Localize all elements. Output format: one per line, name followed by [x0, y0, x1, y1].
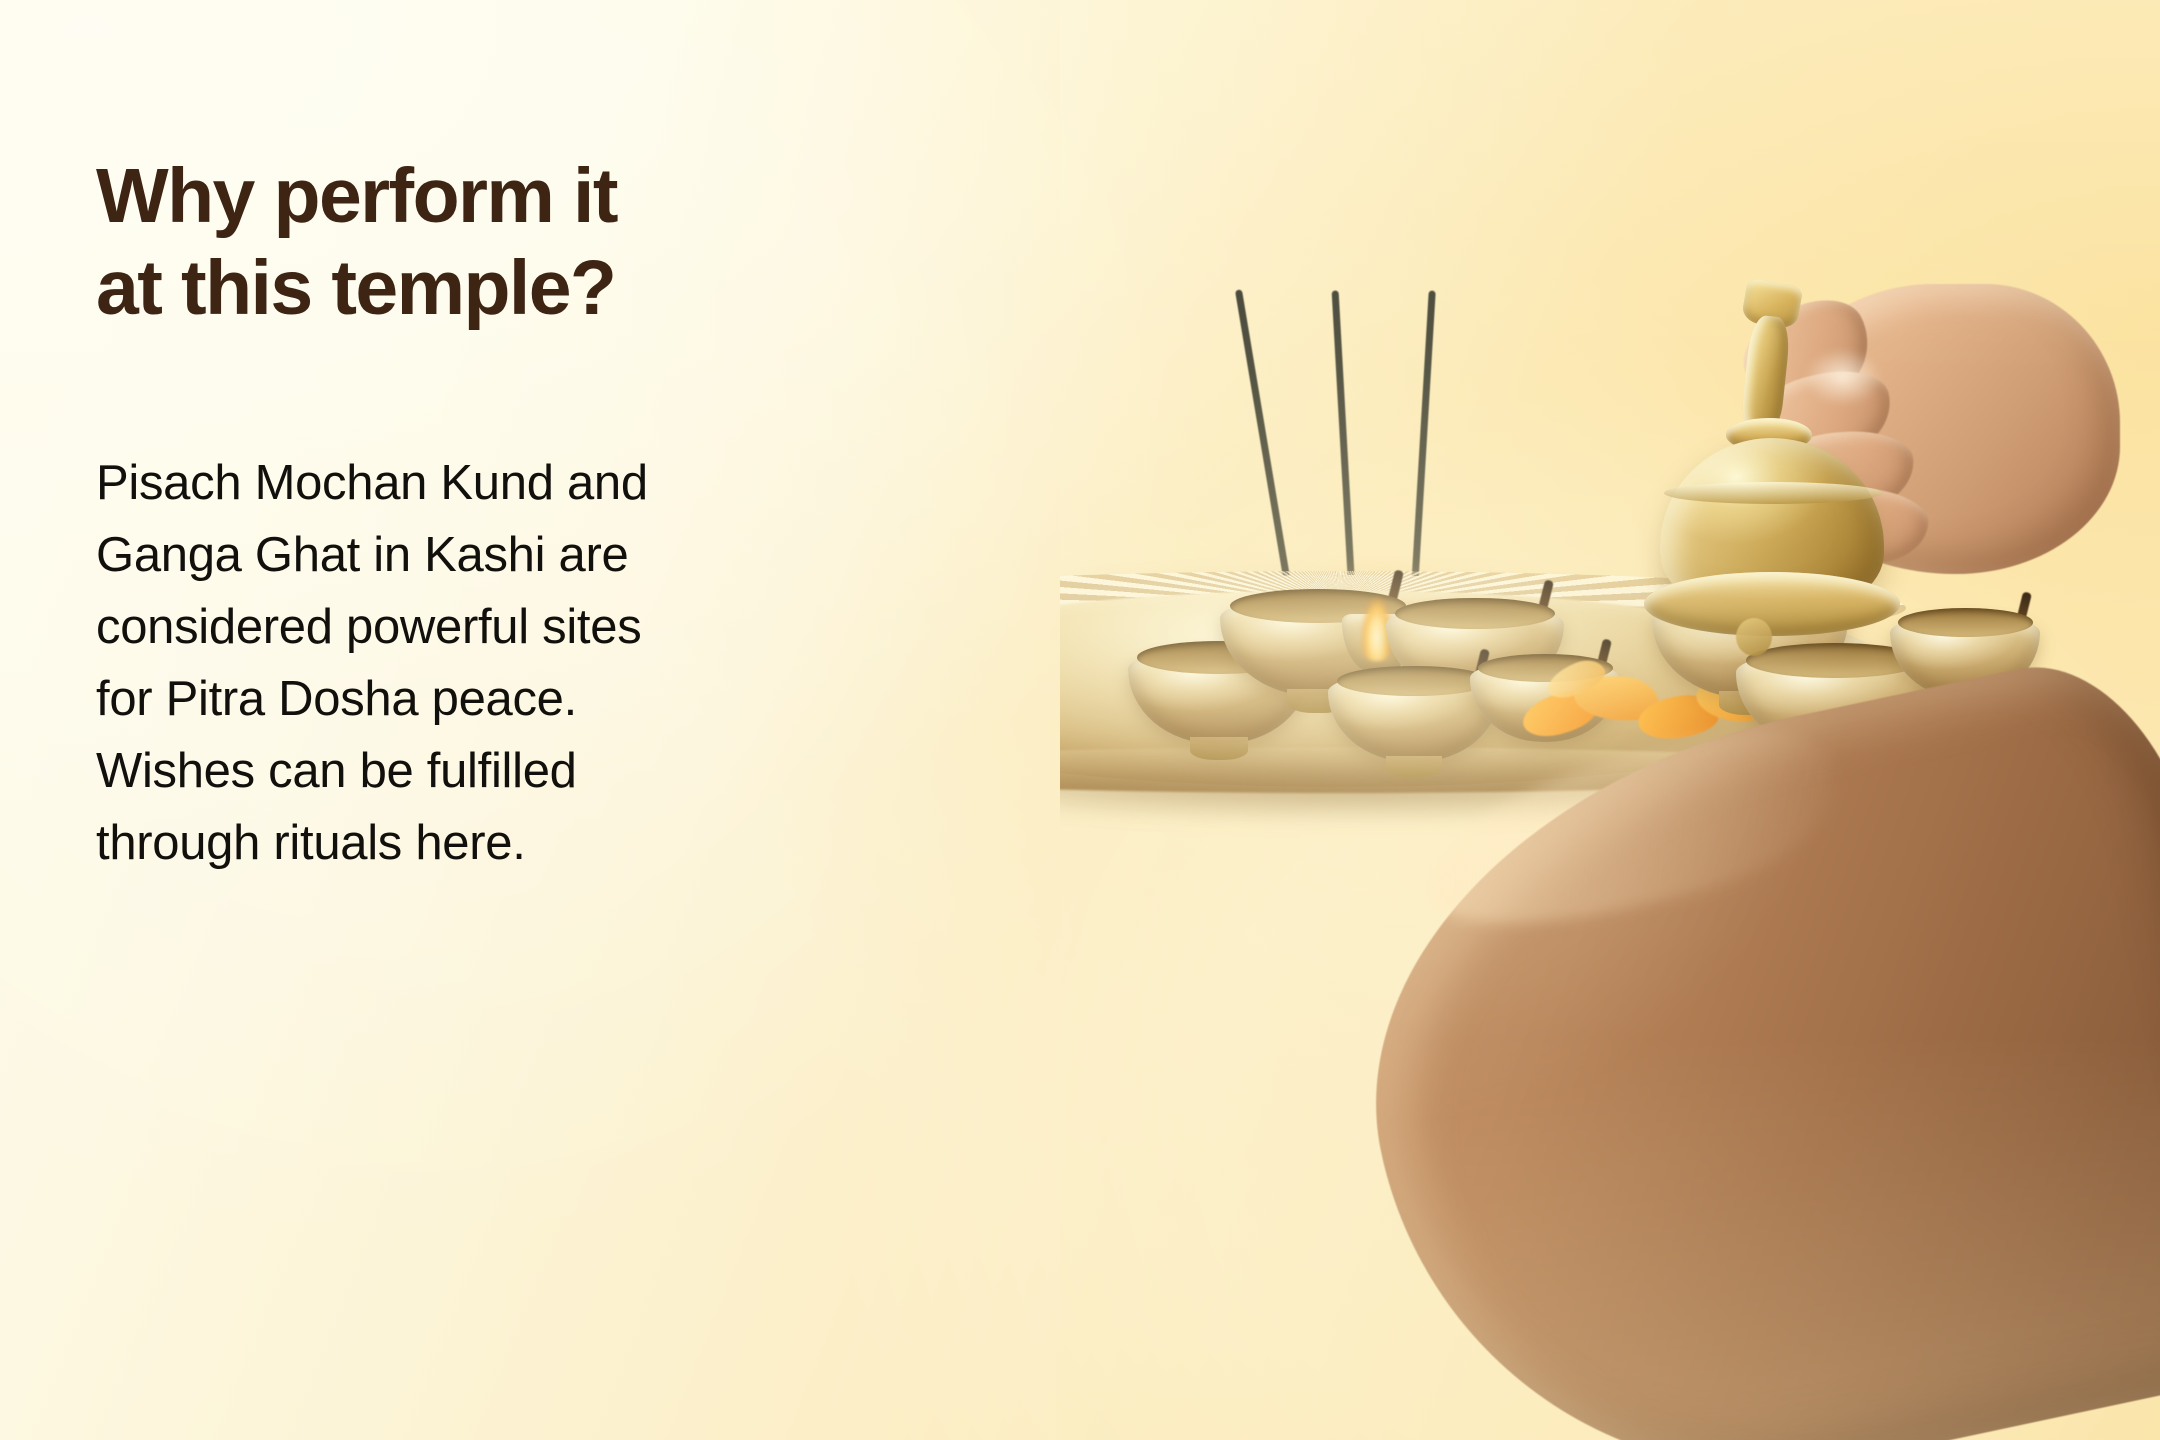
bell-clapper — [1736, 618, 1772, 656]
text-column: Why perform it at this temple? Pisach Mo… — [96, 150, 1096, 879]
bowl-foot — [1190, 737, 1248, 760]
hand-with-bell — [1568, 282, 2128, 702]
bell-lip — [1644, 572, 1900, 636]
bell-band — [1664, 482, 1882, 504]
body-paragraph: Pisach Mochan Kund and Ganga Ghat in Kas… — [96, 447, 1056, 879]
bowl-foot — [1386, 756, 1441, 778]
slide-canvas: Why perform it at this temple? Pisach Mo… — [0, 0, 2160, 1440]
page-title: Why perform it at this temple? — [96, 150, 1096, 335]
thumb-highlight — [1804, 348, 1882, 406]
puja-photo — [1060, 0, 2160, 1440]
